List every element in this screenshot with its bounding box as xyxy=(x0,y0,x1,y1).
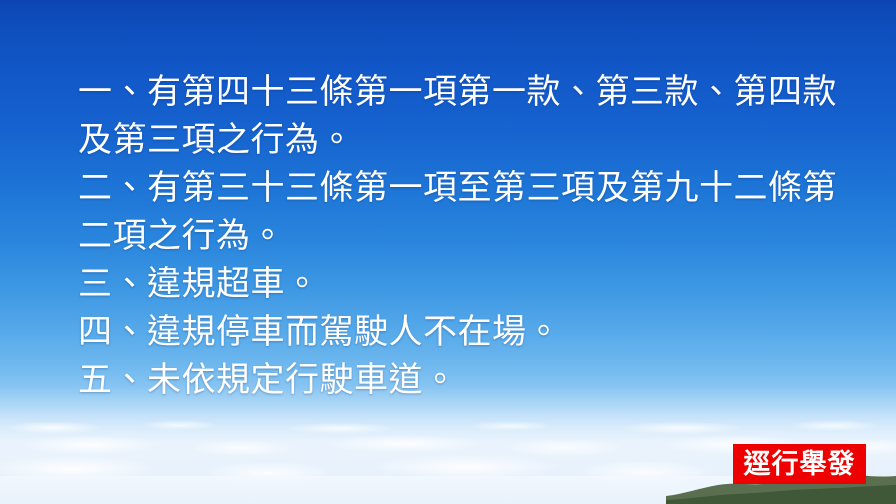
regulation-line-7: 五、未依規定行駛車道。 xyxy=(78,356,878,404)
regulation-line-2: 及第三項之行為。 xyxy=(78,116,878,164)
regulation-line-6: 四、違規停車而駕駛人不在場。 xyxy=(78,308,878,356)
regulation-line-4: 二項之行為。 xyxy=(78,212,878,260)
regulation-line-5: 三、違規超車。 xyxy=(78,260,878,308)
slide: 一、有第四十三條第一項第一款、第三款、第四款 及第三項之行為。 二、有第三十三條… xyxy=(0,0,896,504)
regulation-line-3: 二、有第三十三條第一項至第三項及第九十二條第 xyxy=(78,164,878,212)
regulation-text-block: 一、有第四十三條第一項第一款、第三款、第四款 及第三項之行為。 二、有第三十三條… xyxy=(78,68,878,404)
regulation-line-1: 一、有第四十三條第一項第一款、第三款、第四款 xyxy=(78,68,878,116)
status-badge: 逕行舉發 xyxy=(733,444,866,484)
status-badge-label: 逕行舉發 xyxy=(744,451,856,478)
